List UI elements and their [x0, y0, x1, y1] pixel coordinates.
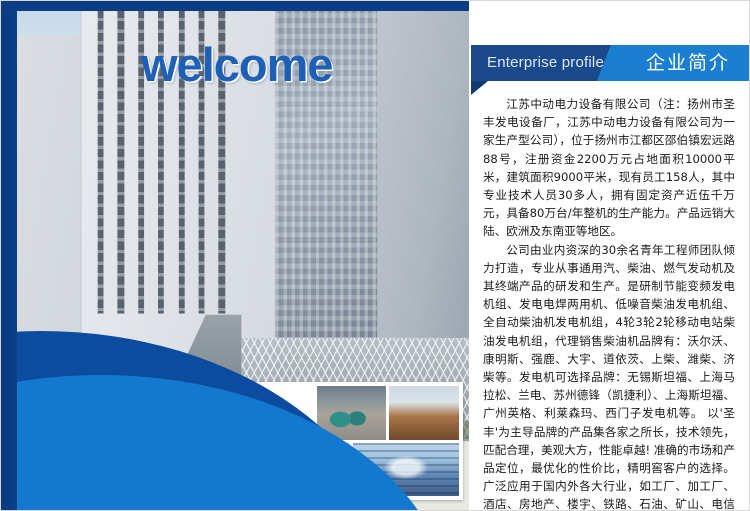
welcome-title: welcome	[141, 37, 333, 92]
right-building-tower	[364, 1, 469, 382]
ribbon-chinese-label: 企业简介	[646, 45, 730, 81]
ribbon-fold-tail	[471, 81, 488, 95]
ribbon-english-label: Enterprise profile	[487, 45, 604, 81]
profile-body-text: 江苏中动电力设备有限公司（注：扬州市圣丰发电设备厂，江苏中动电力设备有限公司为一…	[483, 95, 735, 511]
profile-paragraph-2: 公司由业内资深的30余名青年工程师团队倾力打造，专业从事通用汽、柴油、燃气发动机…	[483, 241, 735, 511]
enterprise-profile-ribbon: Enterprise profile 企业简介	[471, 45, 750, 81]
company-profile-banner: 中动电力 江苏中动电力设备有限公司 Jiangsu Zhongdong Powe…	[0, 0, 750, 511]
window-strip	[98, 1, 104, 314]
window-strip	[118, 1, 124, 314]
open-office-photo	[389, 386, 459, 440]
left-navy-edge-bar	[1, 1, 17, 511]
top-navy-edge-bar	[1, 1, 469, 11]
profile-panel: Enterprise profile 企业简介 江苏中动电力设备有限公司（注：扬…	[469, 1, 750, 511]
profile-paragraph-1: 江苏中动电力设备有限公司（注：扬州市圣丰发电设备厂，江苏中动电力设备有限公司为一…	[483, 95, 735, 241]
